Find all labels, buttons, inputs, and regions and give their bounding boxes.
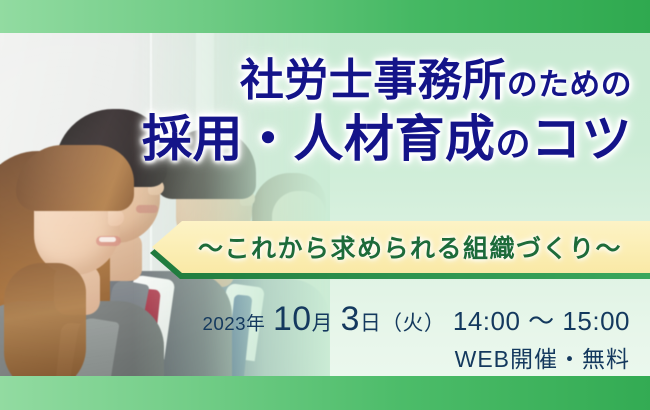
date-day: 3	[341, 300, 360, 338]
ribbon-body: 〜これから求められる組織づくり〜	[152, 221, 650, 273]
title-line-1-main: 社労士事務所	[240, 56, 507, 105]
title-line-1-suffix: のための	[507, 68, 632, 102]
top-green-bar	[0, 0, 650, 33]
title-line-2-tail: コツ	[531, 111, 632, 167]
time-end: 15:00	[562, 306, 630, 336]
date-block: 2023年 10月 3日（火） 14:00 〜 15:00 WEB開催・無料	[202, 300, 630, 372]
title-line-2-main: 採用・人材育成	[142, 111, 496, 167]
title-line-2: 採用・人材育成のコツ	[0, 113, 632, 166]
date-year-unit: 年	[246, 313, 265, 334]
time-start: 14:00	[453, 306, 521, 336]
seminar-banner: 社労士事務所のための 採用・人材育成のコツ 〜これから求められる組織づくり〜 2…	[0, 0, 650, 410]
title-block: 社労士事務所のための 採用・人材育成のコツ	[0, 58, 650, 166]
title-line-2-particle: の	[495, 125, 531, 164]
date-weekday: （火）	[381, 312, 445, 335]
date-line: 2023年 10月 3日（火） 14:00 〜 15:00	[202, 300, 630, 340]
date-month-unit: 月	[312, 312, 333, 335]
date-month: 10	[273, 300, 312, 338]
date-year: 2023	[202, 313, 246, 334]
bottom-green-bar	[0, 376, 650, 410]
date-day-unit: 日	[360, 312, 381, 335]
subtitle-ribbon: 〜これから求められる組織づくり〜	[150, 221, 650, 279]
ribbon-text: 〜これから求められる組織づくり〜	[180, 229, 622, 265]
time-separator: 〜	[528, 306, 555, 336]
venue-line: WEB開催・無料	[202, 347, 630, 372]
title-line-1: 社労士事務所のための	[0, 58, 632, 105]
